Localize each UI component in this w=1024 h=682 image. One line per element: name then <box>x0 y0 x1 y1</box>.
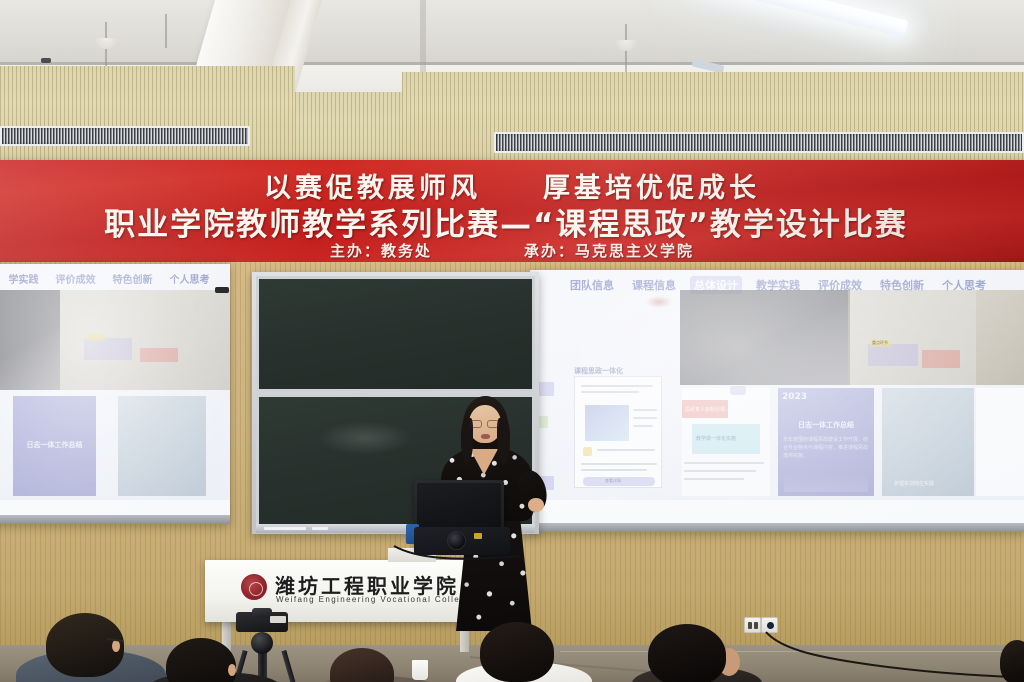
left-slide-photo-people <box>118 396 206 496</box>
ceiling-hook-mid <box>165 14 167 48</box>
banner-subtitle: 职业学院教师教学系列比赛—“课程思政”教学设计比赛 <box>0 199 1024 244</box>
audience-member-6-head <box>1000 640 1024 682</box>
slide-line-7 <box>581 463 657 465</box>
slide-edge-photo <box>976 290 1024 385</box>
audience-member-4-head <box>480 622 554 682</box>
presenter-hand <box>528 498 544 512</box>
slide-quote-line-3 <box>684 478 744 480</box>
slide-photo-people: 护理实训岗位实践 <box>882 388 974 496</box>
right-projection-screen: 团队信息 课程信息 总体设计 教学实践 评价成效 特色创新 个人思考 重点环节 … <box>530 270 1024 532</box>
outlet-slot-a <box>748 622 752 629</box>
left-tab-2[interactable]: 特色创新 <box>109 270 157 287</box>
slide-video-frame <box>680 290 850 385</box>
left-tab-3[interactable]: 个人思考 <box>166 270 214 287</box>
slide-line-6 <box>597 449 655 451</box>
slide-line-2 <box>581 391 639 393</box>
slide-left-panel: 查看详情 <box>574 376 662 488</box>
left-slide-card: 日志一体工作总结 <box>13 396 96 496</box>
wall-vent-left <box>0 126 250 146</box>
slide-purple-card: 2023 日志一体工作总结 本年度围绕课程思政建设工作开展，结合专业特点与课程内… <box>778 388 874 496</box>
slide-quote-line-2 <box>684 470 756 472</box>
slide-tag-yellow: 重点环节 <box>870 340 892 347</box>
right-slide-body: 重点环节 课程思政一体化 查看详情 <box>530 294 1024 523</box>
slide-line-1 <box>581 385 653 387</box>
presenter-glasses <box>470 420 500 428</box>
ceiling-beam-vertical <box>420 0 426 72</box>
slide-tag-label: 重点环节 <box>872 340 888 346</box>
slide-footer-button[interactable]: 查看详情 <box>583 477 655 486</box>
slide-quote-line-1 <box>684 462 764 464</box>
equipment-indicator <box>474 533 482 539</box>
presenter-mouth <box>481 434 490 439</box>
audience-member-5-head <box>648 624 726 682</box>
equipment-cable <box>392 540 522 566</box>
slide-footer-button-label: 查看详情 <box>605 478 621 484</box>
left-slide-redblock <box>140 348 178 362</box>
wall-vent-right <box>494 132 1024 153</box>
audience-member-1-ear <box>112 640 120 652</box>
slide-card-title: 日志一体工作总结 <box>778 420 874 430</box>
slide-card-year: 2023 <box>782 392 807 402</box>
tripod-ball-head[interactable] <box>251 632 273 654</box>
slide-photo-caption: 护理实训岗位实践 <box>894 480 934 487</box>
left-projection-screen: 学实践 评价成效 特色创新 个人思考 日志一体工作总结 <box>0 264 230 524</box>
classroom-photo: 以赛促教展师风 厚基培优促成长 职业学院教师教学系列比赛—“课程思政”教学设计比… <box>0 0 1024 682</box>
glasses-lens-right <box>487 420 499 428</box>
slide-edge-white <box>976 388 1024 496</box>
blackboard-chalk-smudge <box>317 421 413 455</box>
slide-section-heading-wrap: 课程思政一体化 <box>574 360 658 372</box>
right-tab-0[interactable]: 团队信息 <box>566 276 618 294</box>
power-cable <box>760 628 1024 682</box>
glasses-lens-left <box>470 420 482 428</box>
projector-mount-left <box>215 287 229 293</box>
slide-section-heading: 课程思政一体化 <box>574 367 623 375</box>
banner-organizers: 主办：教务处 承办：马克思主义学院 <box>0 240 1024 261</box>
banner-organizer: 主办：教务处 <box>330 240 432 261</box>
audience-member-2-ear <box>228 664 236 676</box>
slide-caption-cyan: 教学做一体化实施 <box>696 435 736 442</box>
right-screen-bottom-bar <box>530 523 1024 532</box>
event-banner: 以赛促教展师风 厚基培优促成长 职业学院教师教学系列比赛—“课程思政”教学设计比… <box>0 160 1024 270</box>
slide-line-5 <box>633 425 653 427</box>
left-screen-tabs: 学实践 评价成效 特色创新 个人思考 <box>0 270 230 287</box>
slide-warning-icon <box>583 447 592 456</box>
lectern-college-name-en: Weifang Engineering Vocational College <box>276 595 472 604</box>
left-screen-bottom-bar <box>0 515 230 524</box>
chalk-stick-2 <box>312 527 328 530</box>
left-slide-callout <box>84 338 132 360</box>
slide-quote-red: 思政育人目标引领 <box>682 400 728 418</box>
left-tab-0[interactable]: 学实践 <box>5 270 43 287</box>
left-slide-tag <box>86 334 106 341</box>
slide-quote-badge <box>730 386 746 395</box>
monitor-logo <box>41 58 51 63</box>
left-card-title: 日志一体工作总结 <box>13 440 96 450</box>
slide-callout-box <box>868 344 918 366</box>
slide-card-chart <box>784 474 868 492</box>
slide-crest-mark <box>646 296 672 308</box>
right-tab-1[interactable]: 课程信息 <box>628 276 680 294</box>
chalk-stick-1 <box>264 527 306 530</box>
ceiling-seam <box>0 62 1024 65</box>
slide-line-4 <box>633 417 657 419</box>
slide-caption-red: 思政育人目标引领 <box>685 406 725 413</box>
slide-line-3 <box>633 409 657 411</box>
slide-red-block <box>922 350 960 368</box>
paper-cup-left[interactable] <box>412 660 428 680</box>
slide-quote-cyan: 教学做一体化实施 <box>692 424 760 454</box>
slide-isometric-graphic <box>585 405 629 441</box>
slide-line-8 <box>581 469 647 471</box>
left-tab-1[interactable]: 评价成效 <box>52 270 100 287</box>
left-slide-video <box>0 290 60 390</box>
left-slide-body: 日志一体工作总结 <box>0 288 230 515</box>
slide-quote-panel: 思政育人目标引领 教学做一体化实施 <box>682 388 770 496</box>
camera-label-tag <box>270 616 286 623</box>
camera-lens-icon <box>252 608 272 618</box>
blackboard-panel-top <box>256 276 535 392</box>
outlet-slot-b <box>754 622 758 629</box>
banner-co-organizer: 承办：马克思主义学院 <box>524 240 694 261</box>
college-crest-icon <box>241 574 267 600</box>
wall-outlet-left[interactable] <box>744 617 761 633</box>
slide-card-body: 本年度围绕课程思政建设工作开展，结合专业特点与课程内容，推进课程思政落地实施。 <box>783 436 869 460</box>
